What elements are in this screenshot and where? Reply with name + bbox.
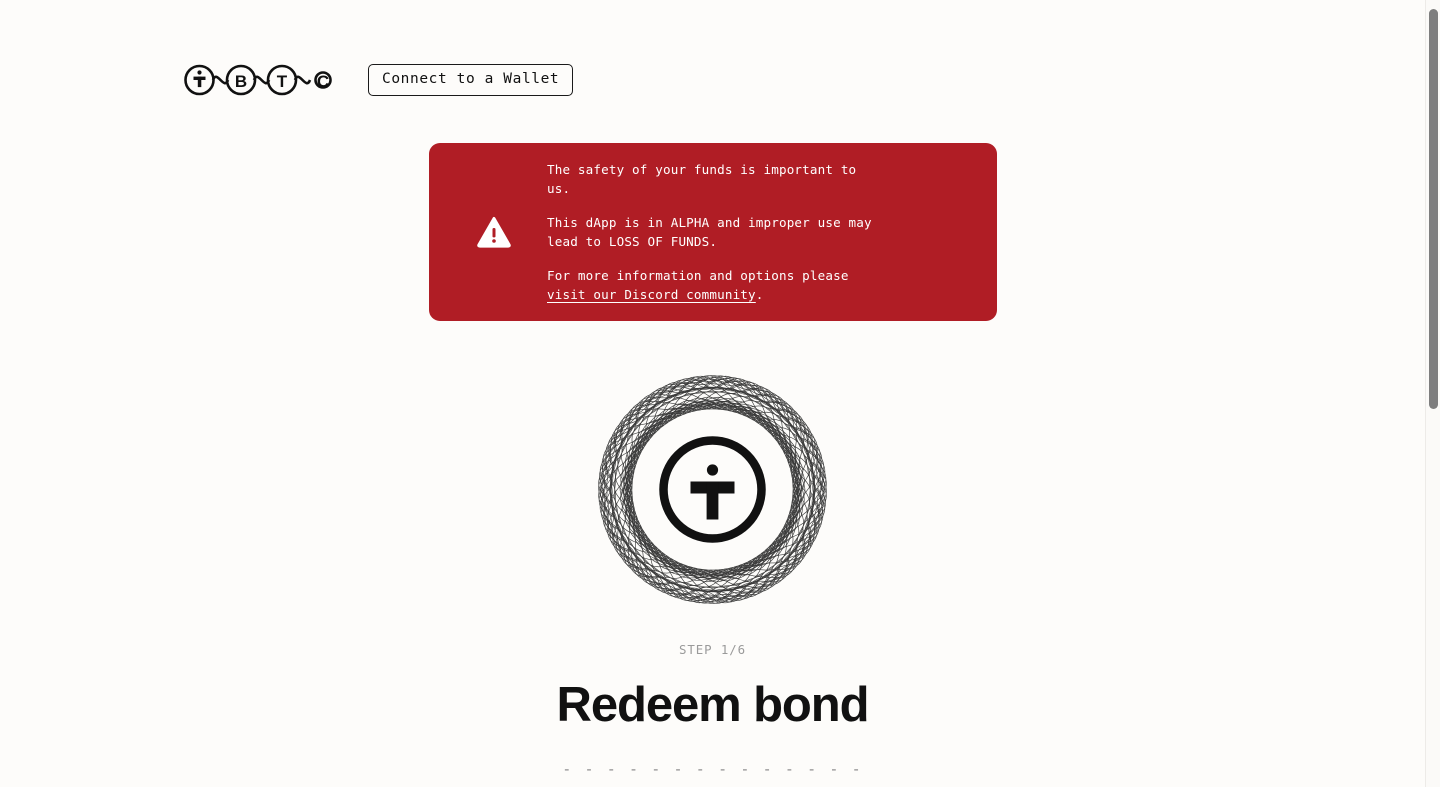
- svg-text:C: C: [317, 72, 329, 91]
- alert-line-info: For more information and options please …: [547, 266, 887, 304]
- step-indicator: STEP 1/6: [0, 642, 1425, 657]
- discord-community-link[interactable]: visit our Discord community: [547, 287, 756, 302]
- alert-info-suffix: .: [756, 287, 764, 302]
- page-title: Redeem bond: [0, 676, 1425, 735]
- alert-text-group: The safety of your funds is important to…: [547, 160, 887, 305]
- svg-text:B: B: [235, 72, 247, 91]
- alpha-warning-banner: The safety of your funds is important to…: [429, 143, 997, 321]
- tbtc-logo[interactable]: B T C: [184, 62, 332, 98]
- alert-info-prefix: For more information and options please: [547, 268, 849, 283]
- tbtc-guilloche-badge: [575, 352, 850, 627]
- alert-line-alpha: This dApp is in ALPHA and improper use m…: [547, 213, 887, 251]
- warning-triangle-icon: [477, 215, 511, 249]
- t-mark-glyph: [194, 70, 206, 87]
- page-viewport: B T C Connect to a Wallet The safety of …: [0, 0, 1425, 787]
- svg-text:T: T: [277, 72, 288, 91]
- section-divider: - - - - - - - - - - - - - -: [0, 760, 1425, 778]
- page-scrollbar-thumb[interactable]: [1429, 9, 1438, 409]
- connect-wallet-button[interactable]: Connect to a Wallet: [368, 64, 573, 96]
- page-scrollbar-track[interactable]: [1425, 0, 1440, 787]
- site-header: B T C Connect to a Wallet: [184, 62, 573, 98]
- alert-line-safety: The safety of your funds is important to…: [547, 160, 887, 198]
